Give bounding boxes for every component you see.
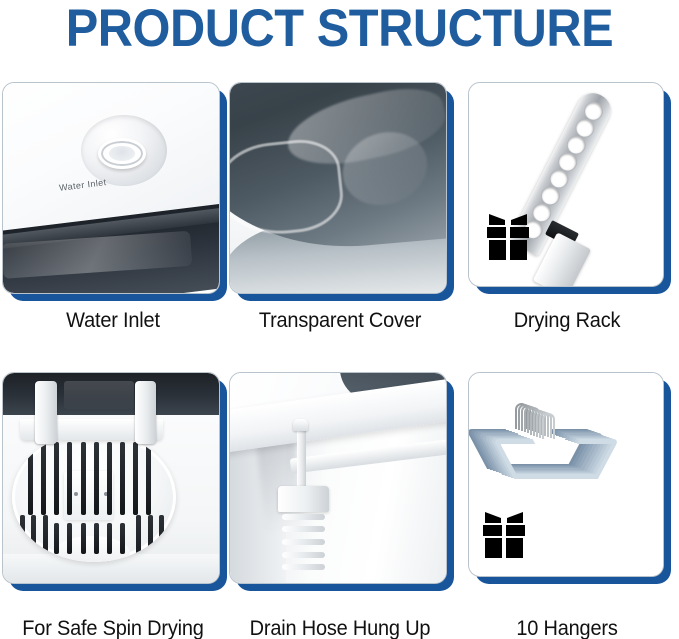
hose-cuff [278,486,330,511]
card-frame [2,372,220,584]
inlet-ring-icon [98,138,146,170]
vent-slot [54,523,59,554]
card-frame [229,372,447,584]
card-surface [229,82,447,294]
vent-slot [41,442,46,515]
card-surface [468,82,664,287]
vent-slot [67,442,72,515]
hose-neck [297,428,306,491]
card-surface [468,372,664,577]
feature-caption: Drain Hose Hung Up [233,617,448,639]
photo-hangers [469,373,663,576]
page-title: PRODUCT STRUCTURE [27,0,652,60]
photo-drying-rack [469,83,663,286]
hinge-bracket-right [135,381,157,444]
feature-card-water-inlet[interactable]: Water Inlet Water Inlet [0,78,226,359]
photo-spin-dry-cover [3,373,219,583]
vent-slot [136,515,141,562]
hinge-bracket-left [35,381,57,444]
product-structure-infographic: PRODUCT STRUCTURE Water Inlet Water Inle… [0,0,679,639]
vent-slot [120,442,125,515]
card-frame [229,82,447,294]
gift-icon [483,512,525,558]
vent-slot [94,442,99,515]
vent-slot [159,515,164,562]
vent-slot [120,523,125,554]
feature-card-hangers[interactable]: 10 Hangers [454,368,679,639]
feature-caption: For Safe Spin Drying [6,617,221,639]
card-surface [229,372,447,584]
feature-caption: Transparent Cover [233,309,448,333]
card-frame [468,372,664,577]
vent-slot [133,442,138,515]
vent-slot [81,523,86,554]
vent-slot [20,515,25,562]
hanger-hook-icon [542,413,555,439]
feature-card-safe-spin-drying[interactable]: For Safe Spin Drying [0,368,226,639]
vent-slot [94,523,99,554]
photo-drain-hose [230,373,446,583]
card-frame [468,82,664,287]
feature-caption: 10 Hangers [460,617,675,639]
vent-slot [43,515,48,562]
hose-hook-icon [293,419,308,431]
card-frame: Water Inlet [2,82,220,294]
gift-icon [487,214,529,260]
spin-cover-vents [12,432,176,562]
vent-slot [54,442,59,515]
vent-slot [81,442,86,515]
photo-transparent-cover [230,83,446,293]
feature-caption: Drying Rack [460,309,675,333]
feature-grid: Water Inlet Water Inlet [0,78,679,639]
feature-card-drying-rack[interactable]: Drying Rack [454,78,679,359]
card-surface [2,372,220,584]
feature-card-transparent-cover[interactable]: Transparent Cover [227,78,453,359]
vent-slot [107,442,112,515]
feature-card-drain-hose[interactable]: Drain Hose Hung Up [227,368,453,639]
vent-slot [148,515,153,562]
vent-slot [31,515,36,562]
vent-slot [28,442,33,515]
vent-slot [146,442,151,515]
photo-water-inlet: Water Inlet [3,83,219,293]
vent-slot [107,523,112,554]
card-surface: Water Inlet [2,82,220,294]
feature-caption: Water Inlet [6,309,221,333]
vent-slot [67,523,72,554]
